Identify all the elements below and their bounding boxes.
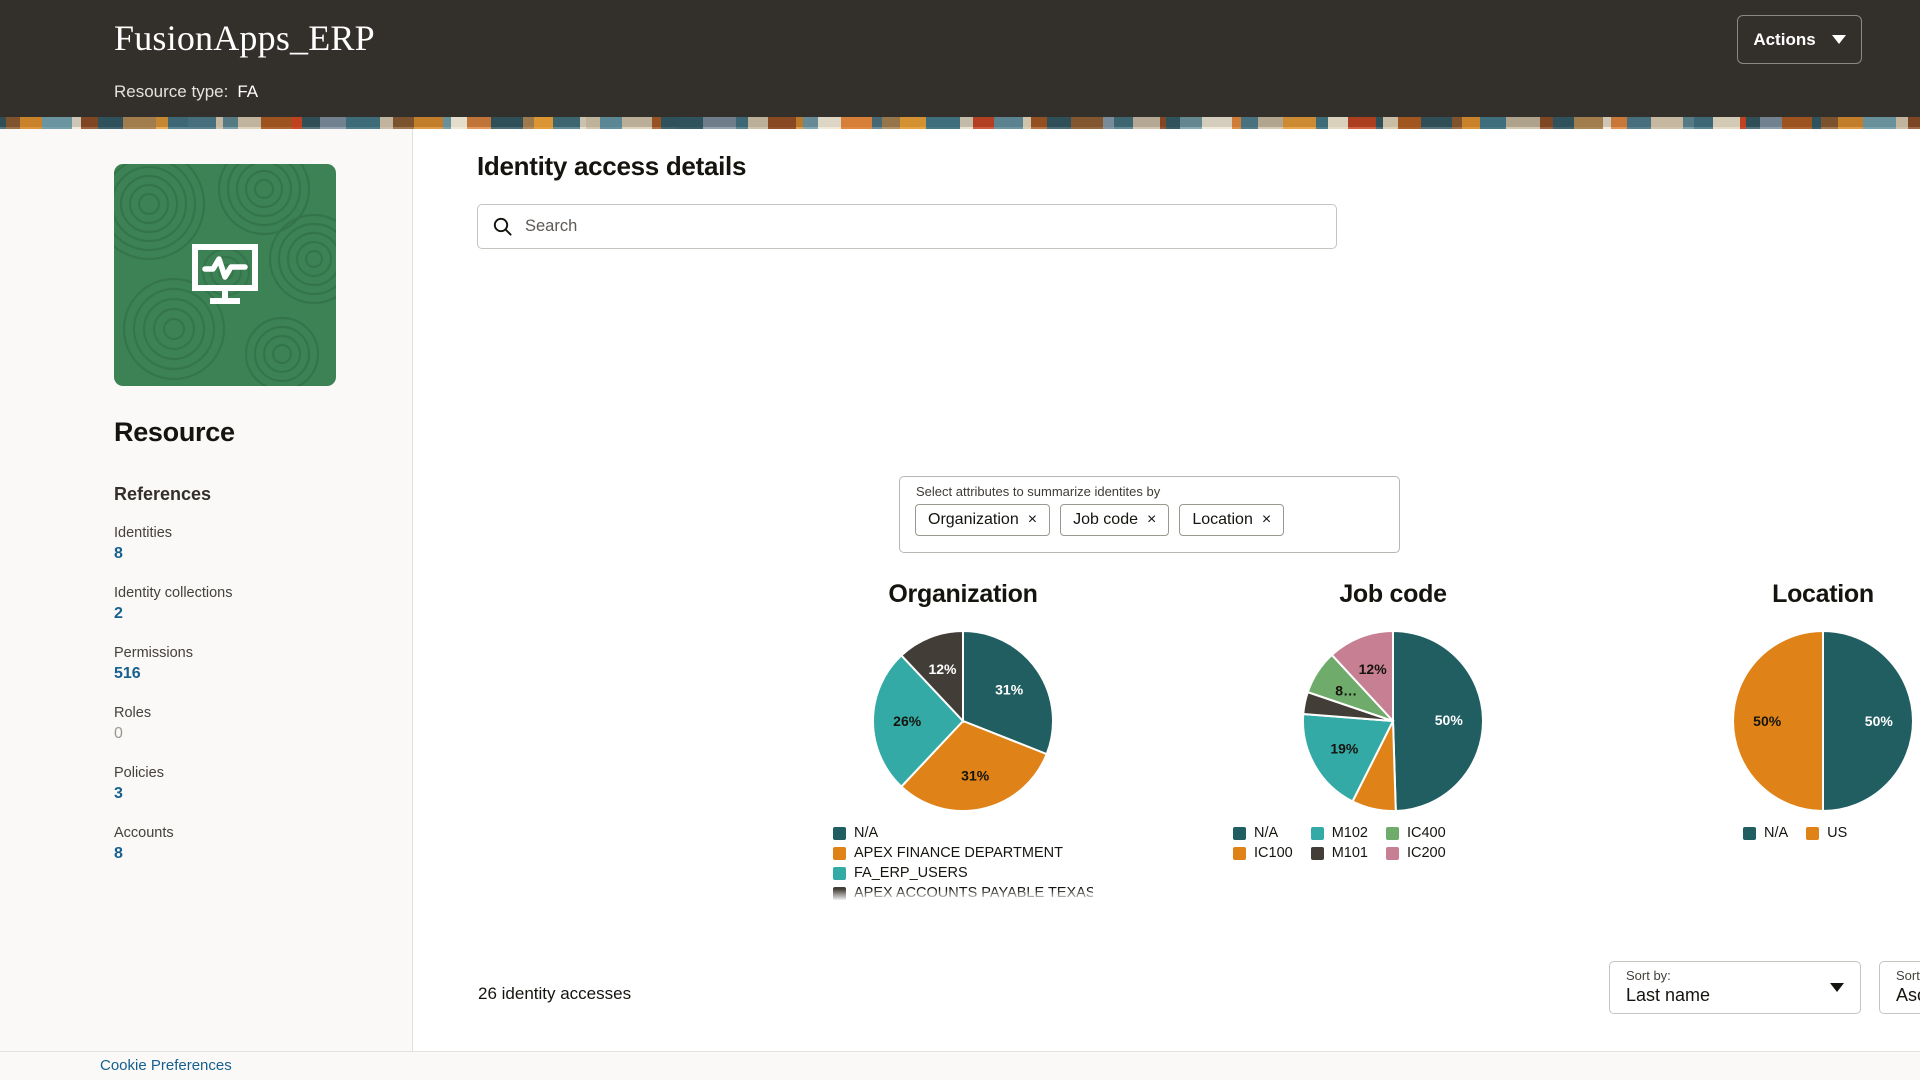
pie-slice-label: 50% [1435, 712, 1464, 728]
reference-item-identity-collections: Identity collections 2 [114, 584, 374, 624]
legend-item[interactable]: US [1806, 825, 1847, 841]
pie-slice-label: 12% [928, 661, 957, 677]
legend-swatch [1386, 847, 1399, 860]
reference-value-permissions[interactable]: 516 [114, 664, 374, 684]
pie-location[interactable]: 50%50% [1733, 631, 1913, 811]
legend-column: N/A [1743, 825, 1788, 845]
sort-direction-label: Sort direction: [1896, 968, 1920, 983]
legend-column: M102M101 [1311, 825, 1368, 865]
reference-label: Identity collections [114, 584, 374, 602]
footer: Cookie Preferences [0, 1051, 1920, 1080]
pie-slice-label: 12% [1359, 661, 1388, 677]
pie-svg: 31%31%26%12% [873, 631, 1053, 811]
sort-by-label: Sort by: [1626, 968, 1671, 983]
reference-label: Permissions [114, 644, 374, 662]
references-heading: References [114, 484, 211, 505]
chevron-down-icon [1832, 35, 1846, 44]
cookie-preferences-link[interactable]: Cookie Preferences [100, 1057, 232, 1074]
reference-item-accounts: Accounts 8 [114, 824, 374, 864]
legend-item[interactable]: N/A [833, 825, 1093, 841]
legend-item[interactable]: M102 [1311, 825, 1368, 841]
reference-item-permissions: Permissions 516 [114, 644, 374, 684]
legend-item[interactable]: FA_ERP_USERS [833, 865, 1093, 881]
sidebar-title: Resource [114, 417, 235, 448]
chart-title: Job code [1173, 579, 1613, 609]
pie-svg: 50%19%8…12% [1303, 631, 1483, 811]
remove-chip-icon[interactable]: × [1262, 512, 1271, 528]
pie-slice-label: 19% [1330, 740, 1359, 756]
chart-job-code: Job code 50%19%8…12% N/AIC100M102M101IC4… [1173, 579, 1613, 865]
legend-item[interactable]: APEX ACCOUNTS PAYABLE TEXAS [833, 885, 1093, 901]
legend-item[interactable]: N/A [1743, 825, 1788, 841]
page-header-title: FusionApps_ERP [114, 17, 375, 59]
legend-item[interactable]: N/A [1233, 825, 1293, 841]
chart-title: Location [1603, 579, 1920, 609]
attribute-chip-location[interactable]: Location × [1179, 504, 1284, 536]
main-content: Identity access details Select attribute… [413, 129, 1920, 1051]
legend-swatch [833, 847, 846, 860]
legend-swatch [1233, 847, 1246, 860]
search-icon [493, 217, 512, 236]
legend-swatch [833, 867, 846, 880]
legend-swatch [833, 827, 846, 840]
legend-location[interactable]: N/AUS [1743, 825, 1903, 845]
attribute-chip-organization[interactable]: Organization × [915, 504, 1050, 536]
legend-organization[interactable]: N/AAPEX FINANCE DEPARTMENTFA_ERP_USERSAP… [833, 825, 1093, 903]
chip-label: Organization [928, 511, 1019, 529]
pie-slice-label: 26% [893, 713, 922, 729]
decorative-banner-stripe [0, 117, 1920, 129]
resource-type-line: Resource type:FA [114, 82, 258, 102]
legend-label: N/A [1254, 825, 1278, 841]
pie-organization[interactable]: 31%31%26%12% [873, 631, 1053, 811]
legend-item[interactable]: APEX FINANCE DEPARTMENT [833, 845, 1093, 861]
legend-column: IC400IC200 [1386, 825, 1446, 865]
sort-direction-select[interactable]: Sort direction: Ascending [1879, 961, 1920, 1014]
pie-job-code[interactable]: 50%19%8…12% [1303, 631, 1483, 811]
references-list: Identities 8 Identity collections 2 Perm… [114, 524, 374, 884]
page-body: Resource References Identities 8 Identit… [0, 129, 1920, 1051]
remove-chip-icon[interactable]: × [1028, 512, 1037, 528]
legend-label: IC400 [1407, 825, 1446, 841]
legend-label: M102 [1332, 825, 1368, 841]
reference-label: Accounts [114, 824, 374, 842]
result-count: 26 identity accesses [478, 984, 631, 1004]
chart-organization: Organization 31%31%26%12% N/AAPEX FINANC… [743, 579, 1183, 903]
legend-label: N/A [854, 825, 878, 841]
legend-label: APEX FINANCE DEPARTMENT [854, 845, 1063, 861]
legend-rows: N/AAPEX FINANCE DEPARTMENTFA_ERP_USERSAP… [833, 825, 1093, 903]
chart-title: Organization [743, 579, 1183, 609]
actions-button[interactable]: Actions [1737, 15, 1862, 64]
reference-value-roles: 0 [114, 724, 374, 744]
pie-slice-label: 31% [961, 767, 990, 783]
pie-slice-label: 8… [1335, 683, 1357, 699]
legend-swatch [1743, 827, 1756, 840]
resource-tile [114, 164, 336, 386]
chart-location: Location 50%50% N/AUS [1603, 579, 1920, 845]
pie-slice-label: 50% [1753, 713, 1782, 729]
pie-slice-label: 31% [995, 682, 1024, 698]
attribute-chip-list: Organization × Job code × Location × [915, 504, 1284, 536]
legend-swatch [1311, 847, 1324, 860]
chevron-down-icon [1830, 983, 1844, 992]
attribute-summarize-selector[interactable]: Select attributes to summarize identites… [899, 476, 1400, 553]
legend-label: M101 [1332, 845, 1368, 861]
sort-by-select[interactable]: Sort by: Last name [1609, 961, 1861, 1014]
chip-label: Job code [1073, 511, 1138, 529]
pie-svg: 50%50% [1733, 631, 1913, 811]
reference-value-policies[interactable]: 3 [114, 784, 374, 804]
legend-swatch [1311, 827, 1324, 840]
legend-item[interactable]: M101 [1311, 845, 1368, 861]
legend-column: US [1806, 825, 1847, 845]
reference-value-identities[interactable]: 8 [114, 544, 374, 564]
sidebar: Resource References Identities 8 Identit… [0, 129, 413, 1051]
search-input[interactable] [525, 207, 1295, 247]
remove-chip-icon[interactable]: × [1147, 512, 1156, 528]
legend-swatch [1386, 827, 1399, 840]
legend-item[interactable]: IC100 [1233, 845, 1293, 861]
search-box[interactable] [477, 204, 1337, 249]
legend-label: IC200 [1407, 845, 1446, 861]
legend-rows: N/AIC100M102M101IC400IC200 [1233, 825, 1553, 865]
reference-item-policies: Policies 3 [114, 764, 374, 804]
app-header: FusionApps_ERP Resource type:FA Actions [0, 0, 1920, 127]
reference-item-roles: Roles 0 [114, 704, 374, 744]
legend-label: FA_ERP_USERS [854, 865, 968, 881]
legend-label: N/A [1764, 825, 1788, 841]
legend-column: N/AIC100 [1233, 825, 1293, 865]
resource-type-value: FA [237, 82, 258, 101]
reference-label: Roles [114, 704, 374, 722]
legend-item[interactable]: IC200 [1386, 845, 1446, 861]
summary-charts: Organization 31%31%26%12% N/AAPEX FINANC… [413, 579, 1920, 929]
sort-direction-value: Ascending [1896, 985, 1920, 1006]
chip-label: Location [1192, 511, 1253, 529]
legend-job-code[interactable]: N/AIC100M102M101IC400IC200 [1233, 825, 1553, 865]
legend-rows: N/AUS [1743, 825, 1903, 845]
legend-label: IC100 [1254, 845, 1293, 861]
reference-label: Policies [114, 764, 374, 782]
attribute-selector-legend: Select attributes to summarize identites… [916, 484, 1160, 499]
sort-by-value: Last name [1626, 985, 1710, 1006]
reference-label: Identities [114, 524, 374, 542]
reference-item-identities: Identities 8 [114, 524, 374, 564]
resource-type-label: Resource type: [114, 82, 228, 101]
attribute-chip-job-code[interactable]: Job code × [1060, 504, 1169, 536]
legend-label: APEX ACCOUNTS PAYABLE TEXAS [854, 885, 1093, 901]
legend-label: US [1827, 825, 1847, 841]
legend-swatch [1233, 827, 1246, 840]
legend-column: N/AAPEX FINANCE DEPARTMENTFA_ERP_USERSAP… [833, 825, 1093, 903]
legend-swatch [833, 887, 846, 900]
pie-slice-label: 50% [1865, 713, 1894, 729]
actions-button-label: Actions [1753, 30, 1815, 50]
legend-item[interactable]: IC400 [1386, 825, 1446, 841]
reference-value-accounts[interactable]: 8 [114, 844, 374, 864]
reference-value-identity-collections[interactable]: 2 [114, 604, 374, 624]
monitor-pulse-icon [192, 244, 258, 306]
page-title: Identity access details [477, 151, 746, 182]
legend-swatch [1806, 827, 1819, 840]
